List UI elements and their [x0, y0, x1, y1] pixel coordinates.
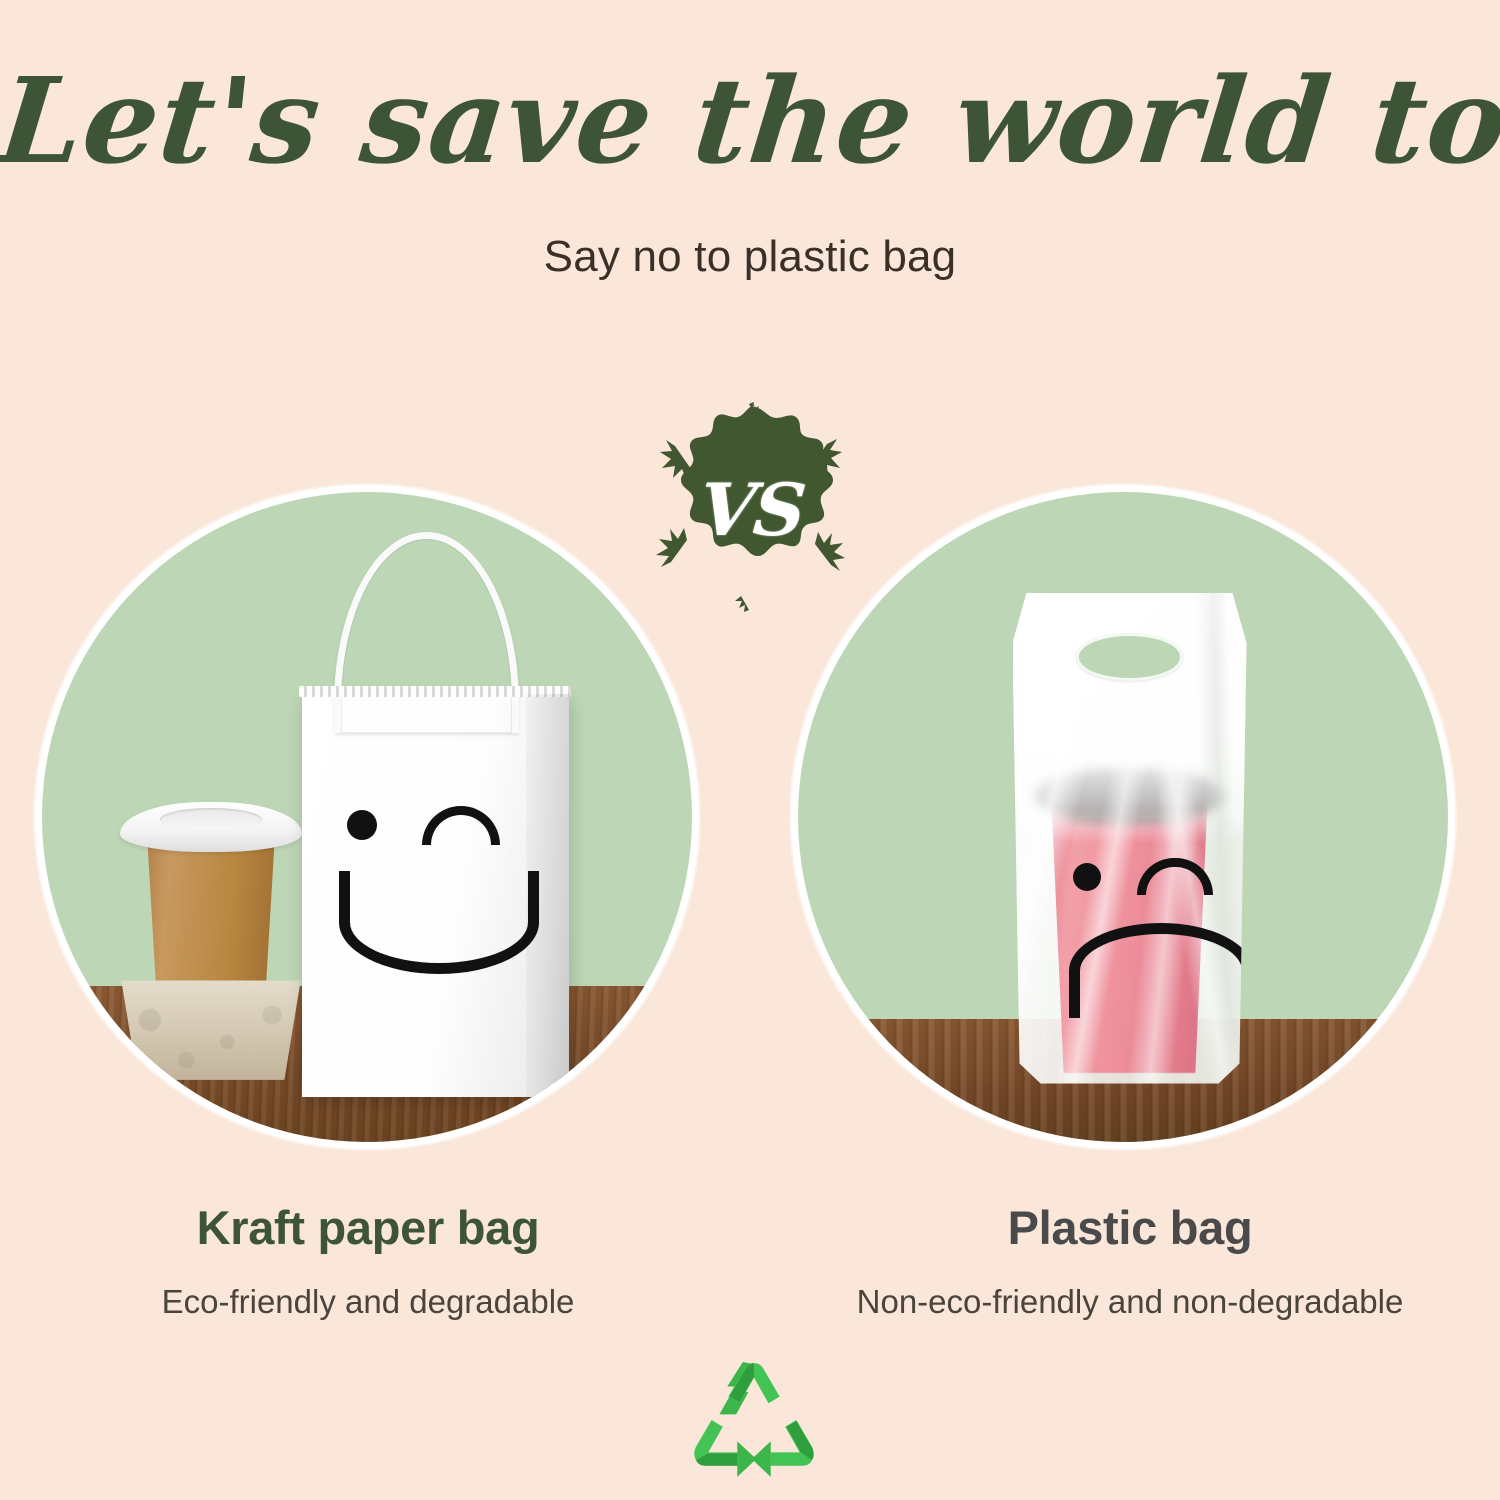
- recycle-glyph: [686, 1362, 822, 1478]
- kraft-subtitle: Eco-friendly and degradable: [28, 1283, 708, 1321]
- vs-label: VS: [638, 404, 866, 614]
- page-subheadline: Say no to plastic bag: [0, 232, 1500, 282]
- sad-mouth: [1069, 923, 1253, 1018]
- sad-left-eye: [1073, 863, 1101, 891]
- caption-kraft: Kraft paper bag Eco-friendly and degrada…: [28, 1200, 708, 1321]
- kraft-title: Kraft paper bag: [28, 1200, 708, 1255]
- paper-bag-icon: [302, 694, 569, 1097]
- cup-lid-inner: [160, 808, 262, 831]
- frowning-face-icon: [1013, 583, 1247, 1084]
- caption-plastic: Plastic bag Non-eco-friendly and non-deg…: [790, 1200, 1470, 1321]
- plastic-title: Plastic bag: [790, 1200, 1470, 1255]
- kraft-photo-circle: [42, 492, 692, 1142]
- plastic-photo-circle: [798, 492, 1448, 1142]
- vs-badge: VS: [645, 402, 855, 612]
- smiley-left-eye: [347, 810, 377, 840]
- smiley-wink-eye: [422, 806, 500, 845]
- plastic-bag-icon: [1013, 583, 1247, 1084]
- smiley-mouth: [339, 871, 539, 974]
- pulp-cup-holder: [109, 980, 313, 1079]
- sad-wink-eye: [1137, 858, 1213, 895]
- pulp-texture: [109, 980, 313, 1079]
- comparison-panel-plastic: [798, 492, 1448, 1142]
- page-headline: Let's save the world together: [0, 62, 1500, 180]
- smiley-face-icon: [302, 694, 569, 1097]
- coffee-cup-icon: [120, 785, 302, 1078]
- recycle-icon: [686, 1362, 822, 1478]
- comparison-panel-kraft: [42, 492, 692, 1142]
- plastic-subtitle: Non-eco-friendly and non-degradable: [790, 1283, 1470, 1321]
- cup-lid: [120, 802, 302, 852]
